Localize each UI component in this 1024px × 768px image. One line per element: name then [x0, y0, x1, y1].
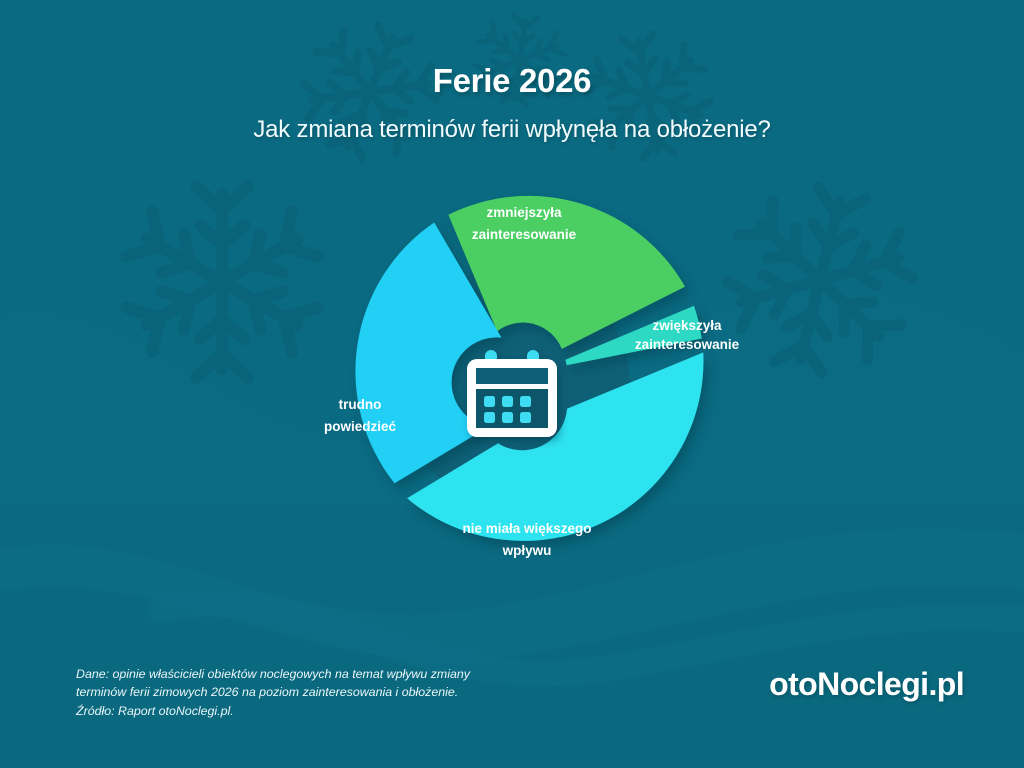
source-note-line-3: Źródło: Raport otoNoclegi.pl. [76, 702, 596, 720]
slice-label-zmniejszyla-line2: zainteresowanie [472, 227, 577, 242]
calendar-icon [467, 350, 557, 437]
slice-label-nie-miala-line1: nie miała większego [462, 521, 591, 536]
slice-label-zwiekszyla-line2: zainteresowanie [635, 337, 740, 352]
source-note-line-1: Dane: opinie właścicieli obiektów nocleg… [76, 665, 596, 683]
page-title: Ferie 2026 [0, 62, 1024, 100]
source-note-line-2: terminów ferii zimowych 2026 na poziom z… [76, 683, 596, 701]
slice-label-zwiekszyla-line1: zwiększyła [652, 318, 722, 333]
source-note: Dane: opinie właścicieli obiektów nocleg… [76, 665, 596, 720]
slice-label-zmniejszyla-line1: zmniejszyła [486, 205, 562, 220]
brand-logo[interactable]: otoNoclegi.pl [769, 666, 964, 703]
slice-label-trudno-line2: powiedzieć [324, 419, 397, 434]
slice-label-trudno-line1: trudno [339, 397, 382, 412]
donut-chart: zmniejszyła zainteresowanie zwiększyła z… [242, 150, 782, 620]
header: Ferie 2026 Jak zmiana terminów ferii wpł… [0, 0, 1024, 144]
slice-label-nie-miala-line2: wpływu [502, 543, 552, 558]
infographic-canvas: Ferie 2026 Jak zmiana terminów ferii wpł… [0, 0, 1024, 768]
donut-chart-svg: zmniejszyła zainteresowanie zwiększyła z… [242, 150, 782, 620]
page-subtitle: Jak zmiana terminów ferii wpłynęła na ob… [0, 116, 1024, 144]
